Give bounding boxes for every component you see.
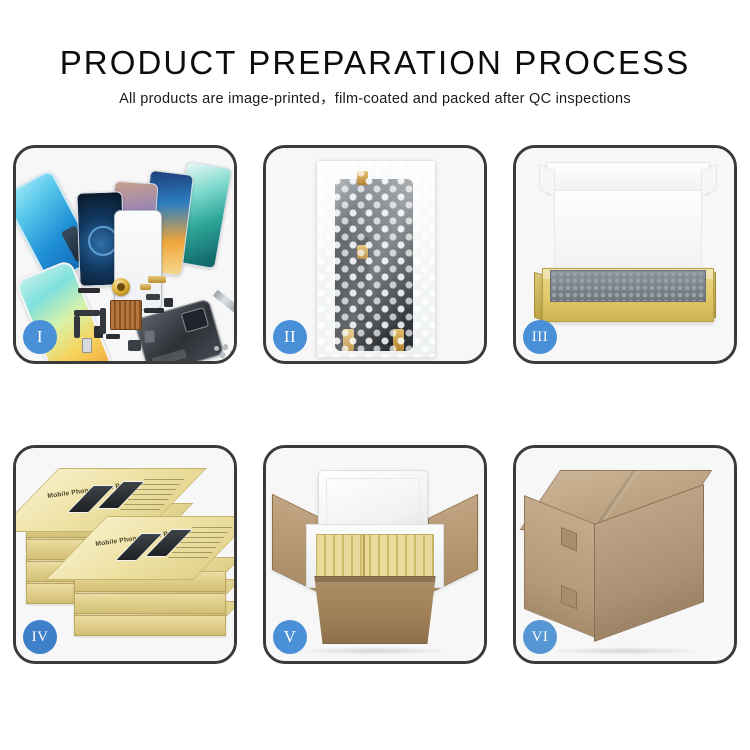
phone-lineup <box>78 164 237 284</box>
carton-front-wall <box>306 576 444 644</box>
stacked-box <box>74 590 226 614</box>
gold-connector <box>148 276 166 283</box>
small-part <box>128 340 141 351</box>
component-bar <box>146 294 160 300</box>
step-panel-bubble-wrap-packing[interactable]: II <box>263 145 487 364</box>
page-header: PRODUCT PREPARATION PROCESS All products… <box>0 0 750 108</box>
step-panel-foam-carton-packing[interactable]: V <box>263 445 487 664</box>
gold-connector <box>140 284 151 290</box>
step-panel-product-components[interactable]: I <box>13 145 237 364</box>
drop-shadow <box>547 647 704 655</box>
box-inner-white-wall <box>554 190 702 274</box>
small-part <box>144 330 155 343</box>
step-badge: I <box>23 320 57 354</box>
small-part <box>82 338 92 353</box>
step-badge: IV <box>23 620 57 654</box>
step-panel-boxes-stacked[interactable]: Mobile Phone Spare Parts Mobile Phone Sp… <box>13 445 237 664</box>
page-subtitle: All products are image-printed，film-coat… <box>0 82 750 108</box>
step-panel-inner-box-packing[interactable]: III <box>513 145 737 364</box>
step-badge: III <box>523 320 557 354</box>
component-bar <box>144 308 164 313</box>
carton-tape-patch <box>561 585 577 609</box>
copper-mesh-part <box>110 300 142 330</box>
stacked-box <box>74 612 226 636</box>
packed-kraft-boxes <box>316 534 434 580</box>
tweezers-tool-icon <box>213 290 237 315</box>
grey-bubble-wrap-contents <box>550 270 706 302</box>
carton-tape-patch <box>561 527 577 551</box>
step-panel-sealed-carton[interactable]: VI <box>513 445 737 664</box>
screws-group <box>214 344 237 358</box>
flex-cable <box>100 308 106 334</box>
bubble-wrap-bag <box>316 160 436 358</box>
page-title: PRODUCT PREPARATION PROCESS <box>0 0 750 82</box>
component-bar <box>106 334 120 339</box>
drop-shadow <box>297 647 454 655</box>
flex-cable <box>74 316 80 338</box>
speaker-coil-part <box>112 278 130 296</box>
step-badge: II <box>273 320 307 354</box>
step-badge: VI <box>523 620 557 654</box>
process-step-grid: I II III <box>13 145 737 664</box>
plastic-gloss-overlay <box>317 161 435 357</box>
step-badge: V <box>273 620 307 654</box>
component-bar <box>164 298 173 307</box>
component-bar <box>78 288 100 293</box>
